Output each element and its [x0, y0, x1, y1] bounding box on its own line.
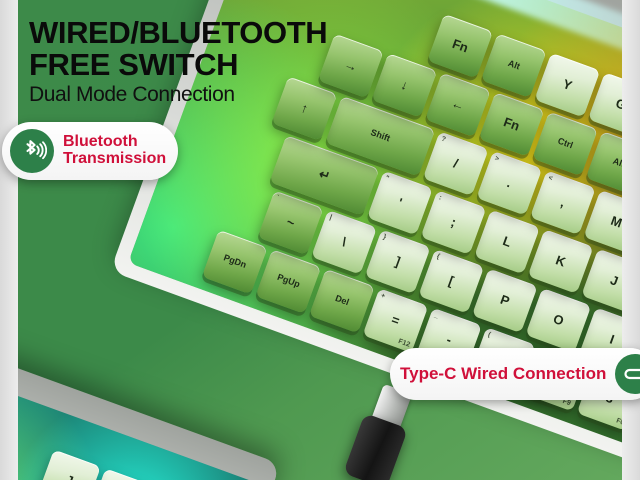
- keycap-fn[interactable]: Fn: [427, 14, 493, 79]
- keycap-main-legend: =: [390, 313, 402, 328]
- keycap-alt-legend: ?: [440, 136, 447, 144]
- keycap-main-legend: Alt: [506, 59, 521, 72]
- keycap-main-legend: I: [608, 333, 616, 347]
- headline-block: WIRED/BLUETOOTH FREE SWITCH Dual Mode Co…: [29, 17, 429, 109]
- keycap-p[interactable]: P: [472, 268, 538, 333]
- keycap-[interactable]: <,: [530, 170, 596, 235]
- usb-c-port-icon: [615, 354, 640, 394]
- keycap-main-legend: [: [447, 274, 456, 288]
- keycap-alt-legend: |: [328, 214, 332, 222]
- keycap-l[interactable]: L: [474, 210, 540, 275]
- keycap-main-legend: ': [396, 196, 404, 210]
- badge-bluetooth-text: Bluetooth Transmission: [63, 134, 166, 168]
- keycap-alt-legend: {: [436, 253, 441, 261]
- keycap-[interactable]: {[: [418, 249, 484, 314]
- keycap-alt-legend: `: [275, 195, 280, 203]
- keycap-ctrl[interactable]: Ctrl: [532, 112, 598, 177]
- keycap-pgdn[interactable]: PgDn: [202, 230, 268, 295]
- keycap-main-legend: \: [340, 235, 348, 249]
- keycap-main-legend: .: [505, 176, 513, 190]
- keycap-[interactable]: "': [367, 171, 433, 236]
- badge-typec-label: Type-C Wired Connection: [400, 365, 606, 383]
- headline-subtitle: Dual Mode Connection: [29, 81, 429, 109]
- keycap-[interactable]: ?/: [423, 131, 489, 196]
- keycap-main-legend: Y: [561, 77, 574, 93]
- keycap-main-legend: Del: [334, 294, 350, 308]
- bluetooth-icon: [10, 129, 54, 173]
- keycap-main-legend: J: [63, 473, 74, 480]
- keycap-main-legend: P: [498, 293, 511, 309]
- keycap-main-legend: Fn: [450, 37, 470, 55]
- keycap-alt-legend: +: [380, 292, 386, 300]
- keycap-main-legend: Fn: [502, 115, 522, 133]
- keycap-alt-legend: }: [382, 234, 387, 242]
- keycap-[interactable]: ←: [425, 73, 491, 138]
- keycap-main-legend: ~: [285, 215, 297, 230]
- keycap-main-legend: Shift: [369, 128, 391, 144]
- keycap-main-legend: ]: [393, 255, 402, 269]
- headline-line-2: FREE SWITCH: [29, 49, 429, 81]
- badge-bluetooth: Bluetooth Transmission: [2, 122, 178, 180]
- left-edge-strip: [0, 0, 18, 480]
- keycap-main-legend: /: [452, 157, 460, 171]
- product-banner: F7&7F8*8F9)9F10(0F11_-F12+=DelPgUpPgDnUI…: [0, 0, 640, 480]
- keycap-alt-legend: <: [547, 175, 553, 183]
- badge-bluetooth-line-2: Transmission: [63, 151, 166, 168]
- keycap-main-legend: PgDn: [222, 254, 247, 271]
- keycap-alt-legend: _: [433, 312, 439, 320]
- keycap-main-legend: O: [551, 312, 565, 328]
- keycap-alt[interactable]: Alt: [481, 33, 547, 98]
- keycap-row: GHJ: [38, 450, 205, 480]
- keycap-[interactable]: }]: [365, 229, 431, 294]
- keycap-[interactable]: F12+=: [362, 288, 428, 353]
- keycap-main-legend: ↵: [317, 167, 332, 184]
- keycap-main-legend: PgUp: [276, 273, 301, 290]
- keycap-pgup[interactable]: PgUp: [255, 249, 321, 314]
- keycap-j[interactable]: J: [38, 450, 101, 480]
- keycap-main-legend: -: [445, 333, 454, 347]
- keycap-alt-legend: (: [487, 331, 492, 339]
- headline-line-1: WIRED/BLUETOOTH: [29, 17, 429, 49]
- keycap-[interactable]: `~: [258, 190, 324, 255]
- keycap-alt-legend: :: [438, 194, 443, 202]
- badge-typec: Type-C Wired Connection: [390, 348, 640, 400]
- keycap-main-legend: ;: [449, 215, 458, 229]
- keycap-k[interactable]: K: [528, 229, 594, 294]
- keycap-main-legend: J: [608, 273, 619, 288]
- keycap-main-legend: ←: [449, 96, 466, 113]
- keycap-y[interactable]: Y: [534, 53, 600, 118]
- badge-bluetooth-line-1: Bluetooth: [63, 134, 166, 151]
- keycap-main-legend: L: [501, 234, 513, 250]
- keycap-main-legend: ,: [559, 196, 567, 210]
- keycap-fn-legend: F12: [397, 338, 411, 349]
- keycap-alt-legend: ": [384, 175, 390, 183]
- keycap-fn[interactable]: Fn: [479, 92, 545, 157]
- right-edge-strip: [622, 0, 640, 480]
- keycap-[interactable]: |\: [311, 210, 377, 275]
- keycap-o[interactable]: O: [525, 288, 591, 353]
- keycap-[interactable]: >.: [476, 151, 542, 216]
- keycap-del[interactable]: Del: [309, 269, 375, 334]
- keycap-[interactable]: :;: [420, 190, 486, 255]
- keycap-main-legend: K: [554, 253, 567, 269]
- keycap-main-legend: Ctrl: [556, 137, 574, 151]
- keycap-alt-legend: >: [494, 155, 500, 163]
